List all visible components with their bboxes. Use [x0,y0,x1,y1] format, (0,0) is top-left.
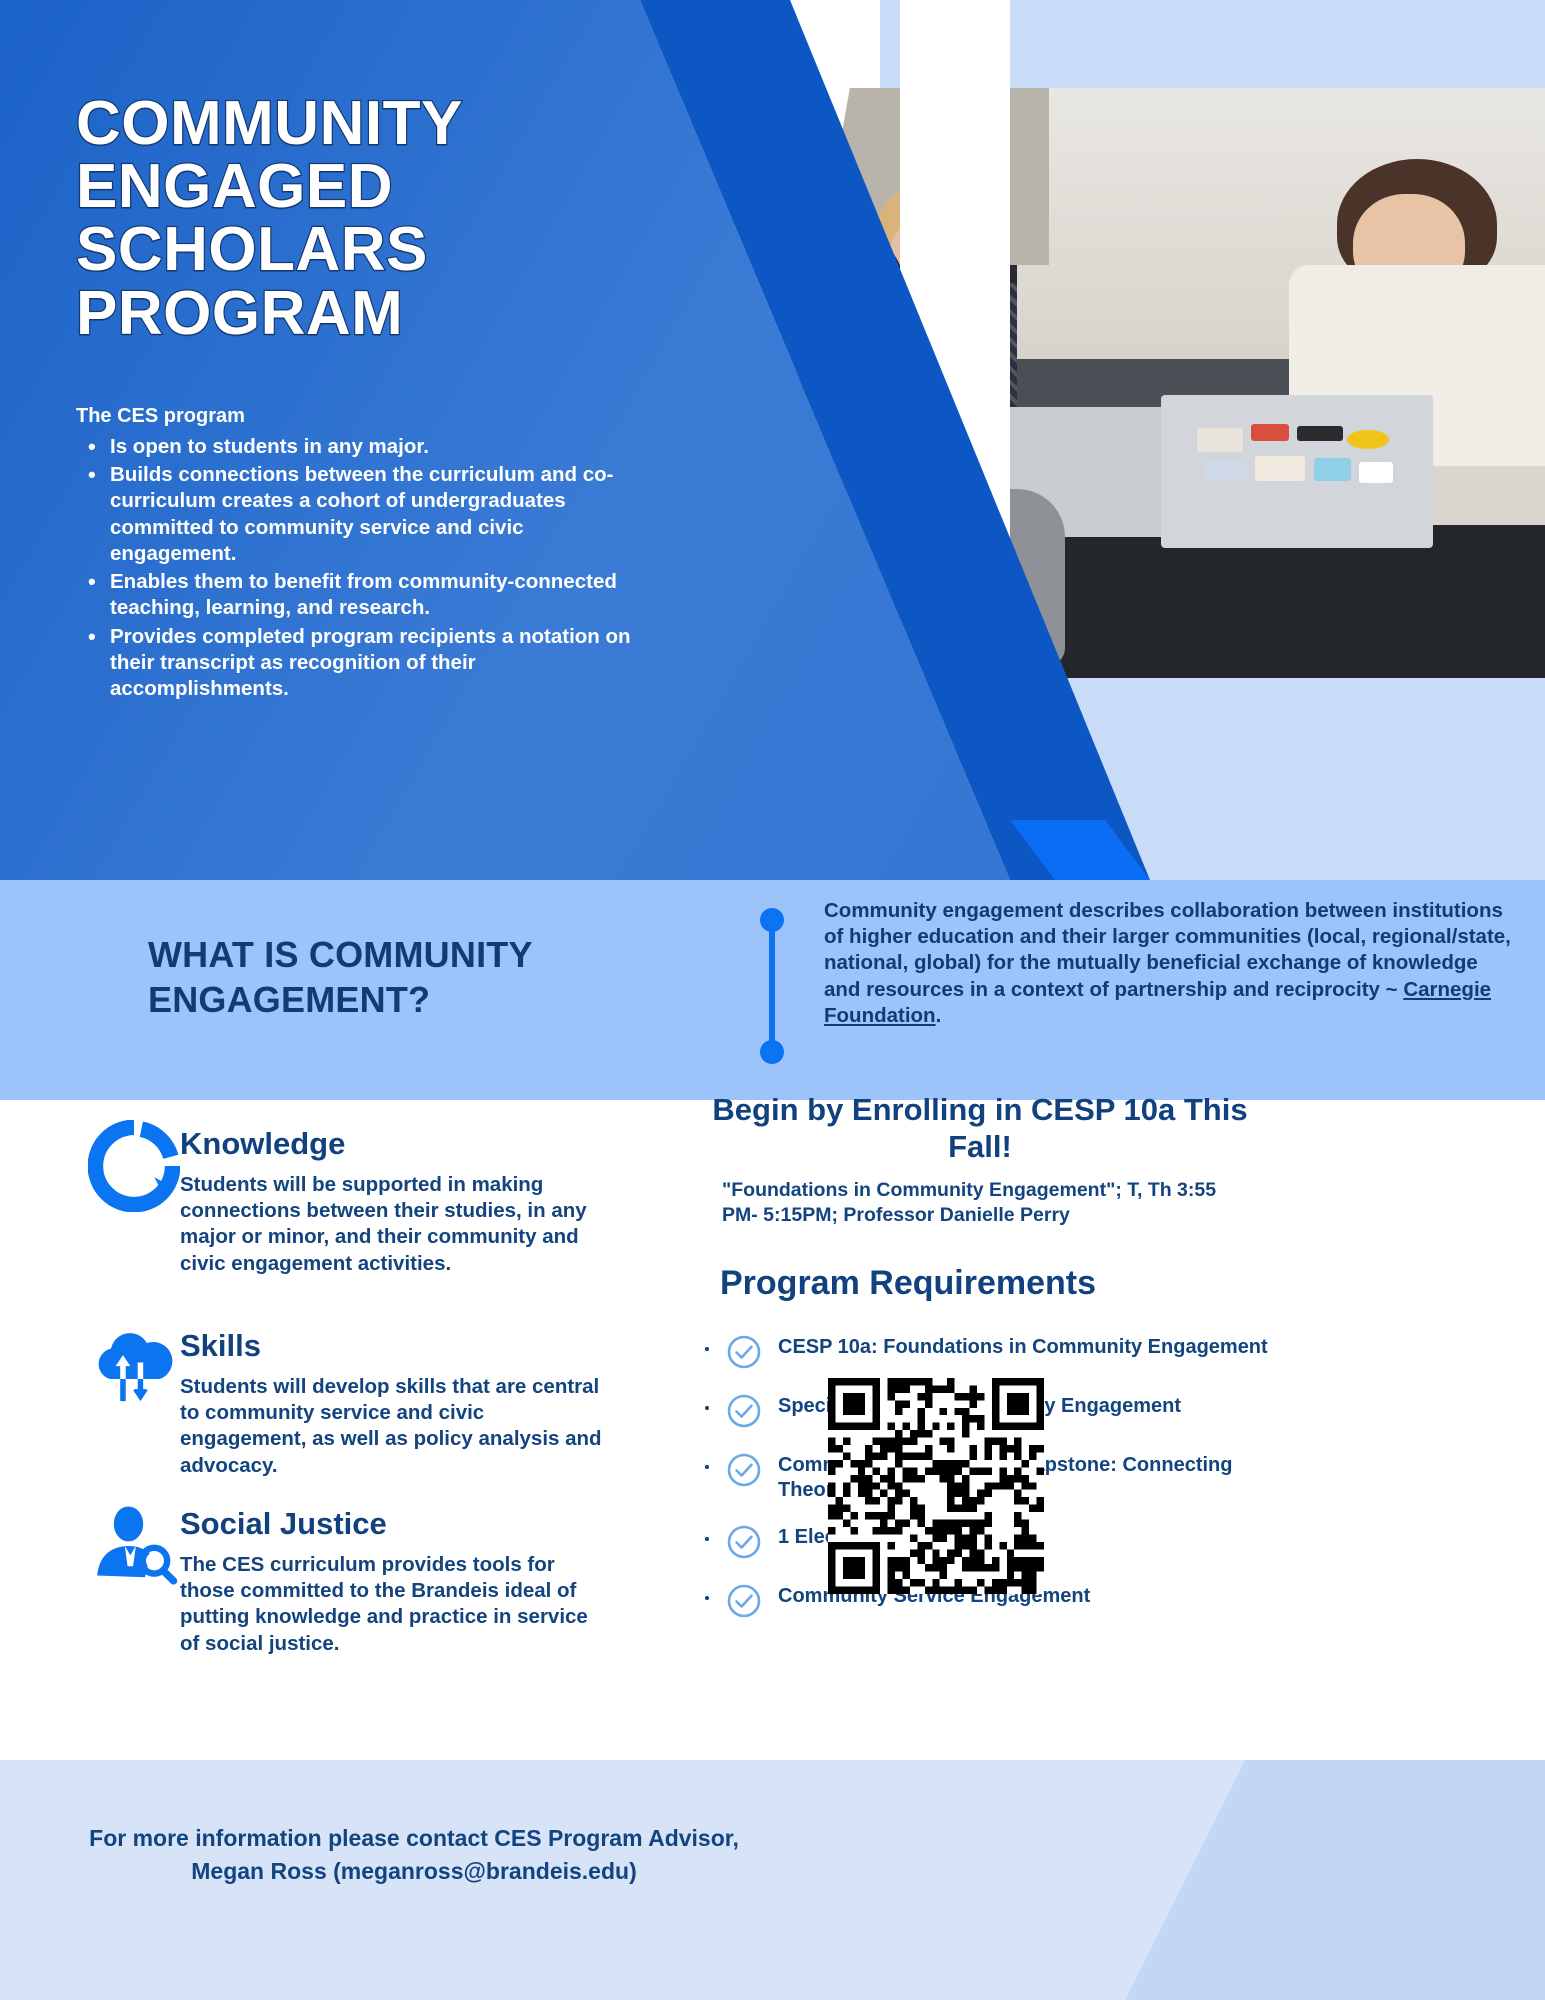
knowledge-ring-icon [88,1120,180,1212]
main-content: Knowledge Students will be supported in … [0,1100,1545,1760]
title-line-1: COMMUNITY [76,92,636,155]
page-title: COMMUNITY ENGAGED SCHOLARS PROGRAM [76,92,636,345]
community-engagement-band: WHAT IS COMMUNITY ENGAGEMENT? Community … [0,880,1545,1100]
skills-cloud-arrows-icon [88,1322,180,1414]
pillar-body: Students will develop skills that are ce… [180,1374,610,1479]
footer: For more information please contact CES … [0,1760,1545,2000]
contact-info: For more information please contact CES … [64,1822,764,1887]
requirement-label: CESP 10a: Foundations in Community Engag… [778,1332,1280,1360]
dot-line-connector-icon [760,908,784,1064]
check-circle-icon [726,1583,762,1619]
footer-wedge [1125,1760,1545,2000]
citation-prefix: ~ [1386,978,1404,1001]
list-item: Enables them to benefit from community-c… [76,569,636,621]
title-line-4: PROGRAM [76,282,636,345]
pillar-body: Students will be supported in making con… [180,1172,610,1277]
connector-line-icon [769,920,775,1052]
community-engagement-definition: Community engagement describes collabora… [824,898,1514,1029]
list-item: CESP 10a: Foundations in Community Engag… [720,1332,1280,1372]
check-circle-icon [726,1524,762,1560]
check-circle-icon [726,1334,762,1370]
hero-section: COMMUNITY ENGAGED SCHOLARS PROGRAM The C… [0,0,1545,880]
citation-suffix: . [936,1004,942,1027]
pillar-title: Skills [180,1328,261,1364]
enroll-heading: Begin by Enrolling in CESP 10a This Fall… [700,1092,1260,1165]
title-line-2: ENGAGED [76,155,636,218]
ces-benefits-list: Is open to students in any major. Builds… [76,434,636,702]
contact-line-2[interactable]: Megan Ross (meganross@brandeis.edu) [191,1858,636,1884]
connector-dot-bottom-icon [760,1040,784,1064]
list-item: Builds connections between the curriculu… [76,462,636,567]
pillar-title: Knowledge [180,1126,345,1162]
enroll-details: "Foundations in Community Engagement"; T… [722,1178,1222,1229]
qr-code[interactable] [828,1378,1044,1594]
pillar-body: The CES curriculum provides tools for th… [180,1552,610,1657]
check-circle-icon [726,1452,762,1488]
check-circle-icon [726,1393,762,1429]
ces-program-intro: The CES program Is open to students in a… [76,405,636,704]
contact-line-1: For more information please contact CES … [89,1825,739,1851]
ces-intro-lead: The CES program [76,405,636,428]
social-justice-person-search-icon [88,1500,180,1592]
program-requirements-heading: Program Requirements [720,1264,1096,1303]
title-line-3: SCHOLARS [76,218,636,281]
list-item: Is open to students in any major. [76,434,636,460]
pillar-title: Social Justice [180,1506,387,1542]
what-is-community-engagement-heading: WHAT IS COMMUNITY ENGAGEMENT? [148,932,668,1022]
list-item: Provides completed program recipients a … [76,624,636,703]
